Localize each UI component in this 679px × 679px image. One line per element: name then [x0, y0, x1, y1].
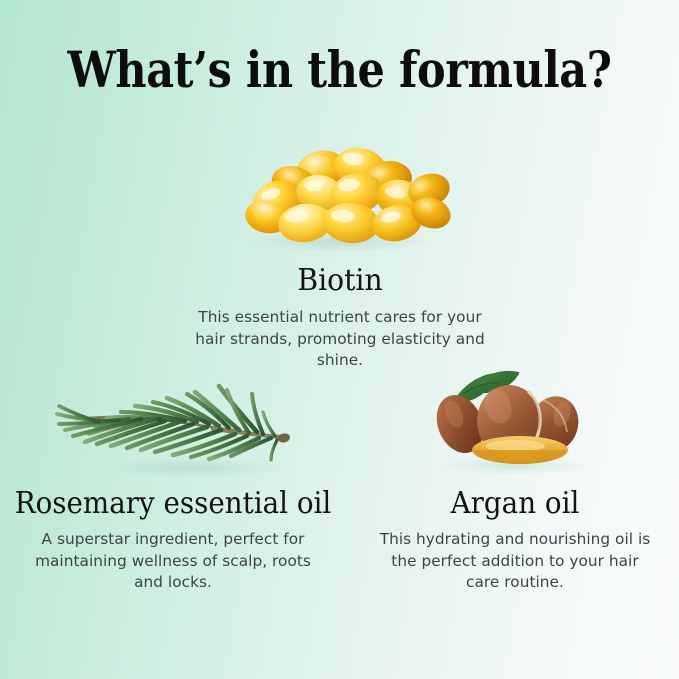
ingredient-card-biotin: Biotin This essential nutrient cares for… — [170, 143, 510, 372]
biotin-art-wrap — [170, 143, 510, 253]
ingredient-card-argan: Argan oil This hydrating and nourishing … — [350, 368, 679, 594]
ingredient-description-rosemary: A superstar ingredient, perfect for main… — [0, 529, 352, 594]
biotin-softgel-capsules-icon — [225, 143, 455, 251]
ingredient-description-biotin: This essential nutrient cares for your h… — [170, 307, 510, 372]
argan-nuts-with-oil-icon — [415, 366, 615, 478]
page-title: What’s in the formula? — [48, 41, 632, 99]
ingredient-description-argan: This hydrating and nourishing oil is the… — [350, 529, 679, 594]
argan-art-wrap — [350, 368, 679, 480]
ingredients-infographic: What’s in the formula? — [0, 0, 679, 679]
rosemary-sprig-icon — [43, 364, 303, 480]
ingredient-name-rosemary: Rosemary essential oil — [5, 486, 342, 520]
rosemary-art-wrap — [0, 368, 352, 480]
ingredient-name-biotin: Biotin — [180, 264, 500, 298]
ingredient-card-rosemary: Rosemary essential oil A superstar ingre… — [0, 368, 352, 594]
ingredient-name-argan: Argan oil — [360, 486, 670, 520]
